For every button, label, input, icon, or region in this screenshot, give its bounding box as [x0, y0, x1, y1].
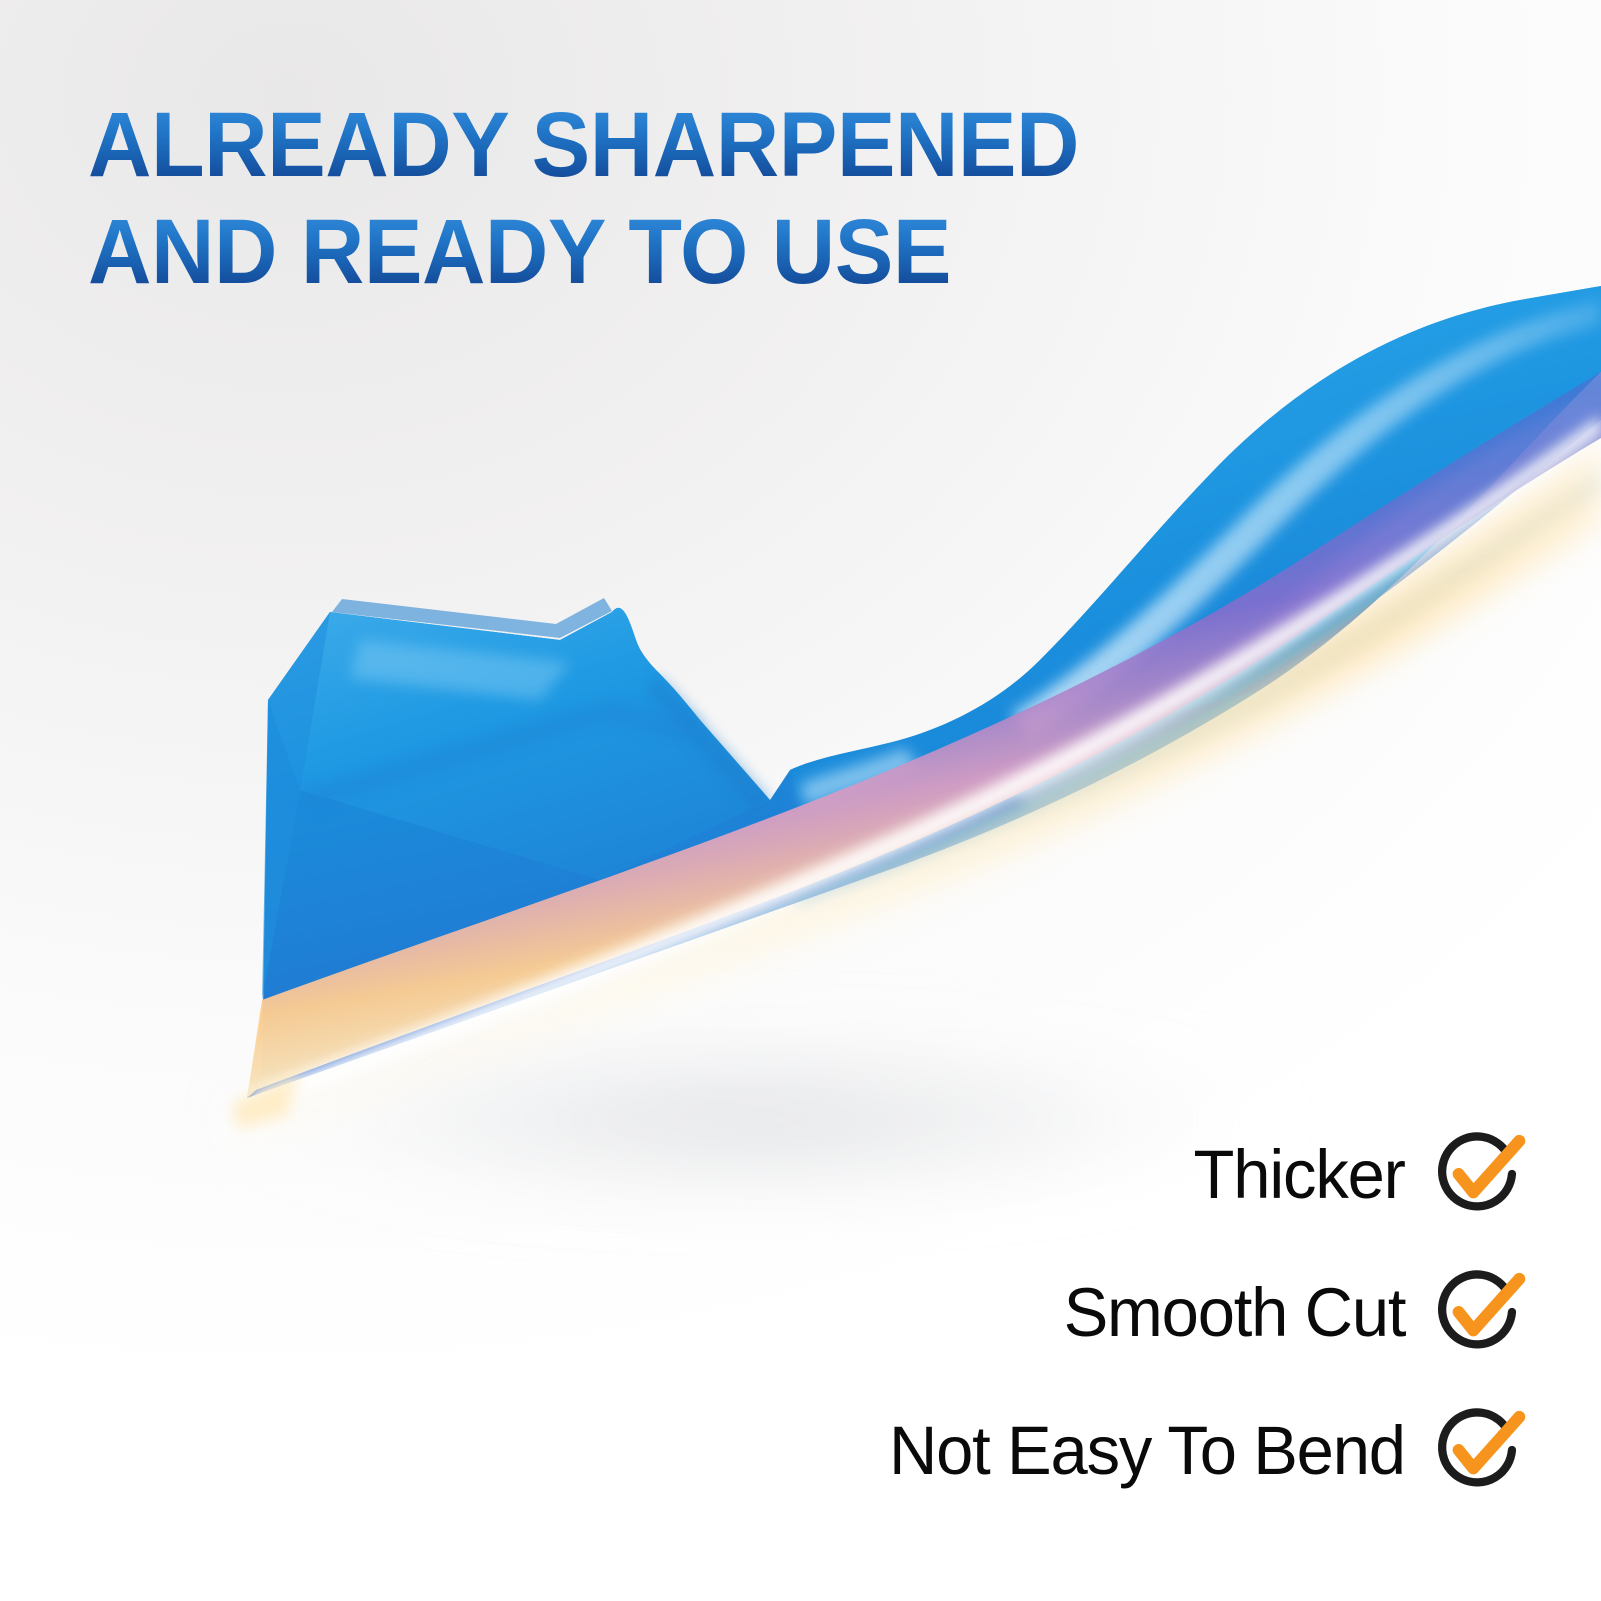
blade-left-shoulder-facet — [262, 612, 330, 1000]
feature-label: Thicker — [1194, 1140, 1405, 1209]
headline-line-1: ALREADY SHARPENED — [88, 92, 1139, 199]
blade-edge-hot-line — [252, 416, 1601, 1108]
feature-item-smooth-cut: Smooth Cut — [1053, 1266, 1523, 1358]
check-circle-icon — [1431, 1404, 1523, 1496]
blade-bevel-shading — [247, 372, 1601, 1098]
feature-list: Thicker Smooth Cut Not Easy To Bend — [873, 1128, 1523, 1496]
blade-highlight-streak-1 — [1010, 300, 1601, 736]
blade-neck-upper-face — [790, 286, 1601, 806]
feature-item-thicker: Thicker — [1187, 1128, 1523, 1220]
blade-tip-crease — [300, 700, 700, 812]
headline-line-2: AND READY TO USE — [88, 199, 1139, 306]
blade-ridge-crease — [646, 676, 770, 814]
blade-tip-gloss — [350, 640, 570, 700]
feature-label: Not Easy To Bend — [889, 1416, 1405, 1485]
blade-tip-point-glow — [232, 1072, 300, 1128]
blade-highlight-streak-2 — [1010, 390, 1601, 806]
blade-shank — [247, 286, 1601, 1098]
product-marketing-image: ALREADY SHARPENED AND READY TO USE Thick… — [0, 0, 1601, 1601]
check-circle-icon — [1431, 1128, 1523, 1220]
feature-label: Smooth Cut — [1063, 1278, 1405, 1347]
blade-tip-top-bevel — [332, 598, 612, 638]
blade-edge-glow-bloom — [230, 440, 1601, 1150]
blade-highlight-streak-3 — [800, 748, 920, 806]
blade-sharpened-edge-iridescent — [247, 372, 1601, 1098]
feature-item-not-easy-to-bend: Not Easy To Bend — [873, 1404, 1523, 1496]
blade-tip-face — [268, 608, 770, 880]
headline-block: ALREADY SHARPENED AND READY TO USE — [88, 92, 1188, 305]
blade-groove-line — [790, 470, 1601, 906]
check-circle-icon — [1431, 1266, 1523, 1358]
